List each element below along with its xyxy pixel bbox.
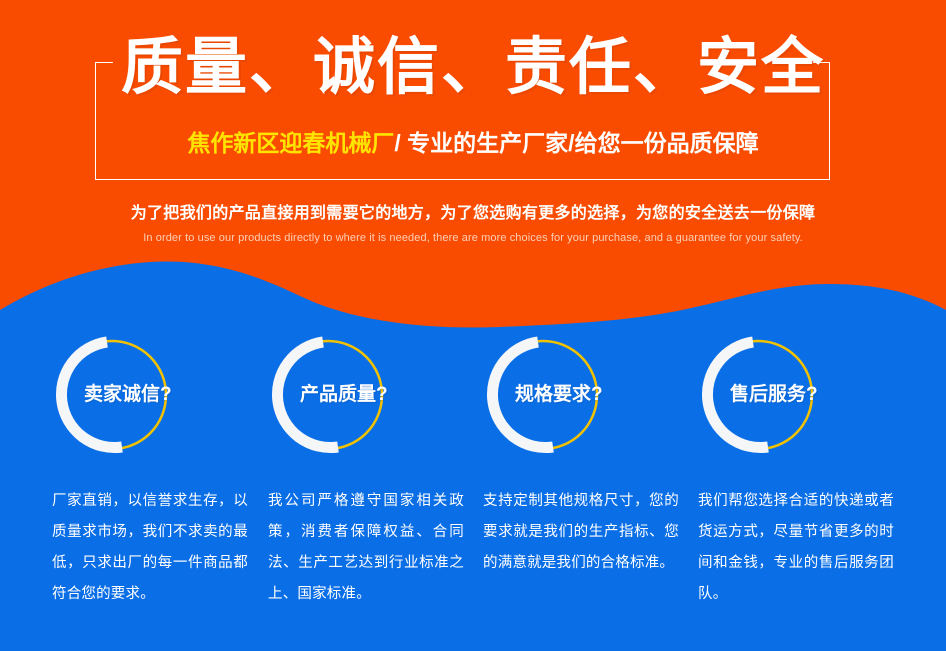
- card-description: 支持定制其他规格尺寸，您的要求就是我们的生产指标、您的满意就是我们的合格标准。: [483, 486, 679, 579]
- feature-card[interactable]: 卖家诚信? 厂家直销，以信誉求生存，以质量求市场，我们不求卖的最低，只求出厂的每…: [46, 333, 261, 457]
- card-label: 规格要求?: [515, 383, 685, 407]
- feature-cards: 卖家诚信? 厂家直销，以信誉求生存，以质量求市场，我们不求卖的最低，只求出厂的每…: [0, 0, 946, 651]
- card-description: 我们帮您选择合适的快递或者货运方式，尽量节省更多的时间和金钱，专业的售后服务团队…: [698, 486, 894, 610]
- feature-card[interactable]: 产品质量? 我公司严格遵守国家相关政策，消费者保障权益、合同法、生产工艺达到行业…: [262, 333, 477, 457]
- card-label: 售后服务?: [730, 383, 900, 407]
- card-description: 厂家直销，以信誉求生存，以质量求市场，我们不求卖的最低，只求出厂的每一件商品都符…: [52, 486, 248, 610]
- card-description: 我公司严格遵守国家相关政策，消费者保障权益、合同法、生产工艺达到行业标准之上、国…: [268, 486, 464, 610]
- feature-card[interactable]: 售后服务? 我们帮您选择合适的快递或者货运方式，尽量节省更多的时间和金钱，专业的…: [692, 333, 907, 457]
- promo-banner-page: 质量、诚信、责任、安全 焦作新区迎春机械厂/ 专业的生产厂家/给您一份品质保障 …: [0, 0, 946, 651]
- card-label: 产品质量?: [300, 383, 470, 407]
- card-label: 卖家诚信?: [84, 383, 254, 407]
- feature-card[interactable]: 规格要求? 支持定制其他规格尺寸，您的要求就是我们的生产指标、您的满意就是我们的…: [477, 333, 692, 457]
